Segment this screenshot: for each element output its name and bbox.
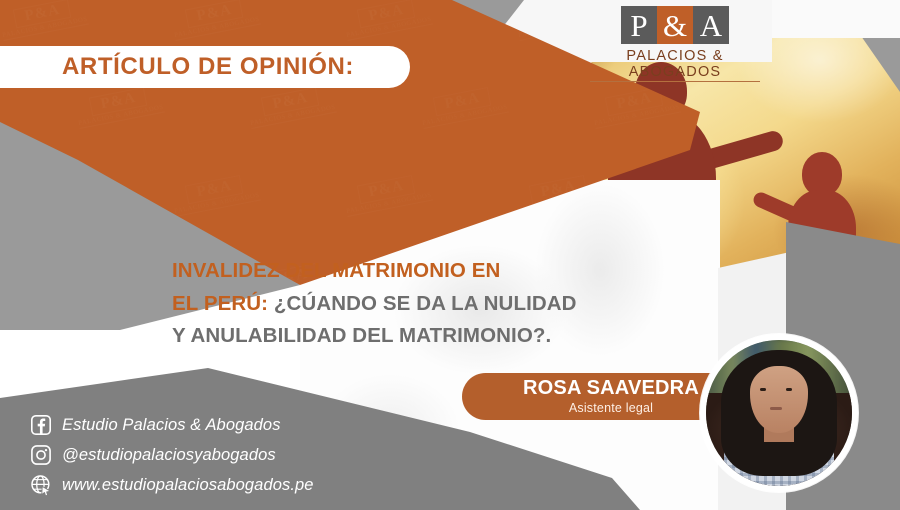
social-row-facebook[interactable]: Estudio Palacios & Abogados [30, 412, 314, 438]
watermark-logo: P&APALACIOS & ABOGADOS [342, 172, 433, 217]
headline-line-2-orange-text: EL PERÚ: [172, 292, 268, 315]
website-label: www.estudiopalaciosabogados.pe [62, 476, 314, 495]
watermark-logo: P&APALACIOS & ABOGADOS [170, 0, 261, 41]
watermark-wordmark: PALACIOS & ABOGADOS [2, 16, 89, 41]
author-photo [706, 340, 852, 486]
logo-letter-p: P [621, 6, 657, 44]
watermark-monogram: P&A [357, 175, 416, 204]
watermark-wordmark: PALACIOS & ABOGADOS [594, 104, 681, 129]
portrait-mouth [770, 407, 782, 410]
headline-line-2-gray-text: ¿CÚANDO SE DA LA NULIDAD [268, 292, 576, 315]
watermark-logo: P&APALACIOS & ABOGADOS [342, 0, 433, 41]
article-label-text: ARTÍCULO DE OPINIÓN: [36, 53, 354, 81]
headline-line-1-text: INVALIDEZ DEL MATRIMONIO EN [172, 259, 500, 282]
portrait-eye-left [760, 388, 766, 391]
watermark-wordmark: PALACIOS & ABOGADOS [346, 16, 433, 41]
headline-line-1: INVALIDEZ DEL MATRIMONIO EN [172, 258, 602, 285]
instagram-icon [30, 444, 52, 466]
social-row-website[interactable]: www.estudiopalaciosabogados.pe [30, 472, 314, 498]
headline-line-2: EL PERÚ: ¿CÚANDO SE DA LA NULIDAD [172, 291, 602, 318]
watermark-monogram: P&A [261, 87, 320, 116]
watermark-logo: P&APALACIOS & ABOGADOS [246, 84, 337, 129]
logo-letter-ampersand: & [657, 6, 693, 44]
article-label-pill: ARTÍCULO DE OPINIÓN: [0, 46, 410, 88]
watermark-wordmark: PALACIOS & ABOGADOS [174, 192, 261, 217]
watermark-monogram: P&A [185, 0, 244, 28]
facebook-icon [30, 414, 52, 436]
watermark-logo: P&APALACIOS & ABOGADOS [0, 348, 89, 393]
social-row-instagram[interactable]: @estudiopalaciosyabogados [30, 442, 314, 468]
logo-wordmark: PALACIOS & ABOGADOS [590, 48, 760, 82]
website-globe-icon [30, 474, 52, 496]
watermark-wordmark: PALACIOS & ABOGADOS [346, 192, 433, 217]
watermark-monogram: P&A [13, 0, 72, 28]
facebook-label: Estudio Palacios & Abogados [62, 416, 281, 435]
logo-monogram: P & A [590, 6, 760, 44]
author-avatar [700, 334, 858, 492]
watermark-wordmark: PALACIOS & ABOGADOS [78, 104, 165, 129]
social-links: Estudio Palacios & Abogados @estudiopala… [30, 412, 314, 502]
watermark-monogram: P&A [185, 175, 244, 204]
poster-canvas: P&APALACIOS & ABOGADOSP&APALACIOS & ABOG… [0, 0, 900, 510]
watermark-logo: P&APALACIOS & ABOGADOS [418, 84, 509, 129]
instagram-label: @estudiopalaciosyabogados [62, 446, 276, 465]
headline-line-3: Y ANULABILIDAD DEL MATRIMONIO?. [172, 323, 602, 350]
watermark-monogram: P&A [357, 0, 416, 28]
watermark-logo: P&APALACIOS & ABOGADOS [74, 84, 165, 129]
logo-letter-a: A [693, 6, 729, 44]
watermark-monogram: P&A [433, 87, 492, 116]
watermark-logo: P&APALACIOS & ABOGADOS [170, 172, 261, 217]
watermark-logo: P&APALACIOS & ABOGADOS [0, 0, 89, 41]
watermark-monogram: P&A [89, 87, 148, 116]
watermark-monogram: P&A [13, 351, 72, 380]
brand-logo[interactable]: P & A PALACIOS & ABOGADOS [590, 6, 760, 82]
watermark-wordmark: PALACIOS & ABOGADOS [250, 104, 337, 129]
watermark-wordmark: PALACIOS & ABOGADOS [422, 104, 509, 129]
headline-block: INVALIDEZ DEL MATRIMONIO EN EL PERÚ: ¿CÚ… [172, 258, 602, 356]
headline-line-3-text: Y ANULABILIDAD DEL MATRIMONIO?. [172, 324, 551, 347]
watermark-wordmark: PALACIOS & ABOGADOS [174, 16, 261, 41]
